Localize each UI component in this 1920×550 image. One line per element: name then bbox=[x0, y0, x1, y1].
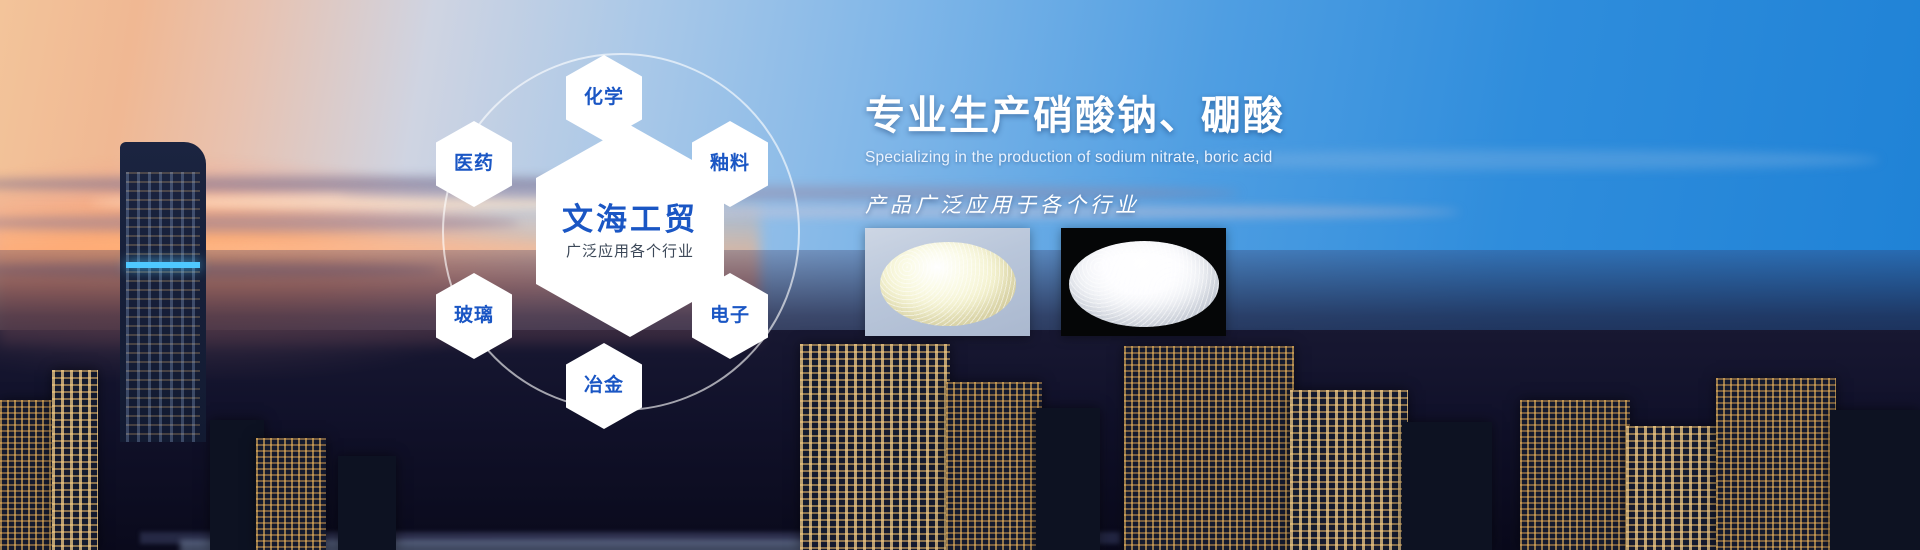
powder-grain-texture bbox=[880, 242, 1016, 326]
headline: 专业生产硝酸钠、硼酸 bbox=[865, 96, 1765, 136]
building bbox=[338, 456, 396, 550]
hexagon-label: 医药 bbox=[454, 153, 494, 175]
powder-pile-pale bbox=[880, 242, 1016, 326]
building bbox=[1290, 390, 1408, 550]
promotional-banner: 文海工贸 广泛应用各个行业 化学 釉料 电子 冶金 玻璃 医药 专业生产硝酸钠、… bbox=[0, 0, 1920, 550]
building bbox=[1036, 408, 1100, 550]
product-photo-2[interactable] bbox=[1061, 228, 1226, 336]
building bbox=[1830, 410, 1920, 550]
hexagon-label: 冶金 bbox=[584, 375, 624, 397]
building bbox=[256, 438, 326, 550]
product-photo-strip bbox=[865, 228, 1226, 336]
hexagon-label: 玻璃 bbox=[454, 305, 494, 327]
company-tagline: 广泛应用各个行业 bbox=[566, 243, 694, 260]
english-subtitle: Specializing in the production of sodium… bbox=[865, 149, 1765, 167]
building bbox=[1520, 400, 1630, 550]
building bbox=[1716, 378, 1836, 550]
banner-copy: 专业生产硝酸钠、硼酸 Specializing in the productio… bbox=[865, 96, 1765, 219]
hexagon-label: 化学 bbox=[584, 87, 624, 109]
hexagon-label: 电子 bbox=[710, 305, 750, 327]
company-name: 文海工贸 bbox=[562, 202, 698, 238]
hexagon-label: 釉料 bbox=[710, 153, 750, 175]
powder-pile-white bbox=[1069, 241, 1219, 327]
industry-hexagon-diagram: 文海工贸 广泛应用各个行业 化学 釉料 电子 冶金 玻璃 医药 bbox=[420, 25, 840, 445]
building bbox=[1124, 346, 1294, 550]
tower-windows bbox=[126, 172, 200, 442]
chinese-tagline: 产品广泛应用于各个行业 bbox=[865, 189, 1765, 219]
building bbox=[946, 382, 1042, 550]
building bbox=[0, 400, 60, 550]
tower-light-stripe bbox=[126, 262, 200, 268]
building bbox=[1402, 422, 1492, 550]
skyscraper-landmark bbox=[120, 142, 206, 442]
building bbox=[1626, 426, 1722, 550]
powder-grain-texture bbox=[1069, 241, 1219, 327]
building bbox=[52, 370, 98, 550]
product-photo-1[interactable] bbox=[865, 228, 1030, 336]
